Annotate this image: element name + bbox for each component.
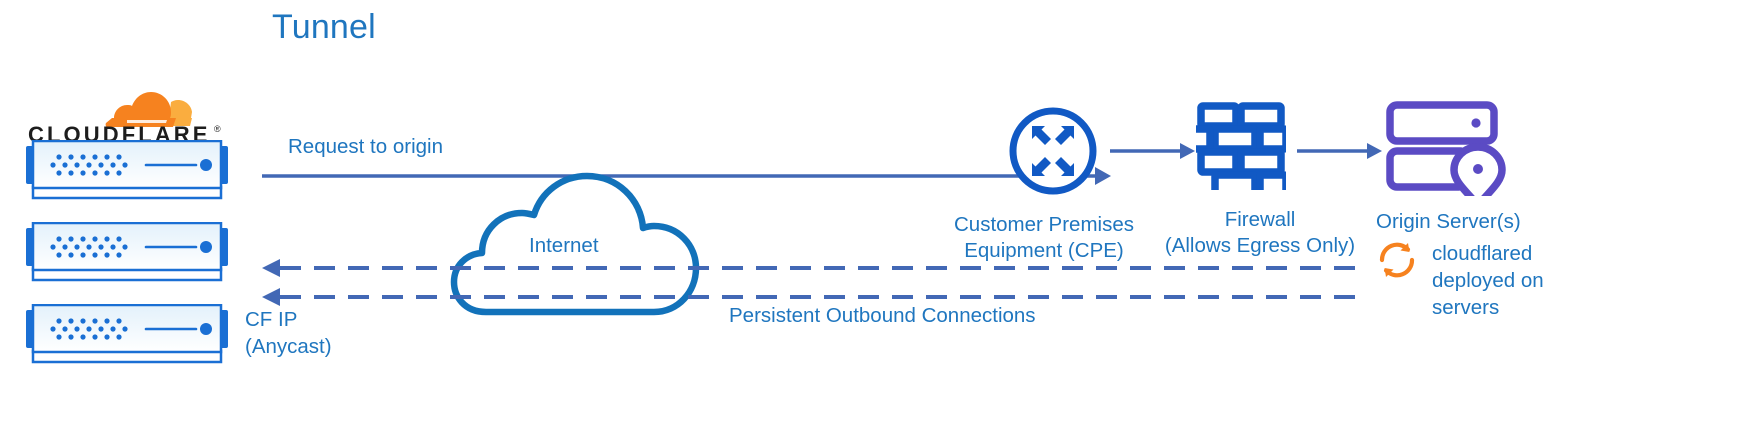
cloudflared-label-line3: servers: [1432, 294, 1562, 321]
svg-text:®: ®: [214, 124, 221, 134]
cloudflare-edge-server-1: [24, 140, 230, 202]
cpe-converge-arrows-icon: [1007, 105, 1099, 197]
firewall-brick-wall-icon: [1196, 100, 1286, 190]
firewall-label-line1: Firewall: [1156, 207, 1364, 233]
cloudflared-label: cloudflared deployed on servers: [1432, 240, 1562, 321]
cloudflared-label-line1: cloudflared: [1432, 240, 1562, 267]
cf-ip-anycast-label-line1: CF IP: [245, 306, 405, 333]
firewall-label: Firewall (Allows Egress Only): [1156, 207, 1364, 259]
origin-server-icon: [1385, 100, 1509, 196]
request-to-origin-label: Request to origin: [288, 134, 443, 160]
cpe-label-line1: Customer Premises: [946, 212, 1142, 238]
cloudflared-sync-icon: [1375, 238, 1419, 282]
cloudflare-logo: CLOUDFLARE ®: [28, 72, 226, 144]
cpe-label-line2: Equipment (CPE): [946, 238, 1142, 264]
cloudflare-edge-server-3: [24, 304, 230, 366]
cloudflared-label-line2: deployed on: [1432, 267, 1562, 294]
page-title: Tunnel: [272, 8, 376, 47]
cpe-label: Customer Premises Equipment (CPE): [946, 212, 1142, 264]
persistent-outbound-connections-label: Persistent Outbound Connections: [729, 303, 1036, 329]
cf-ip-anycast-label-line2: (Anycast): [245, 333, 405, 360]
cpe-to-firewall-arrow: [1110, 140, 1196, 162]
cf-ip-anycast-label: CF IP (Anycast): [245, 306, 405, 360]
tunnel-architecture-diagram: Tunnel CLOUDFLARE ®: [0, 0, 1754, 422]
firewall-to-origin-arrow: [1297, 140, 1383, 162]
origin-server-label: Origin Server(s): [1376, 209, 1521, 235]
cloudflare-edge-server-2: [24, 222, 230, 284]
firewall-label-line2: (Allows Egress Only): [1156, 233, 1364, 259]
